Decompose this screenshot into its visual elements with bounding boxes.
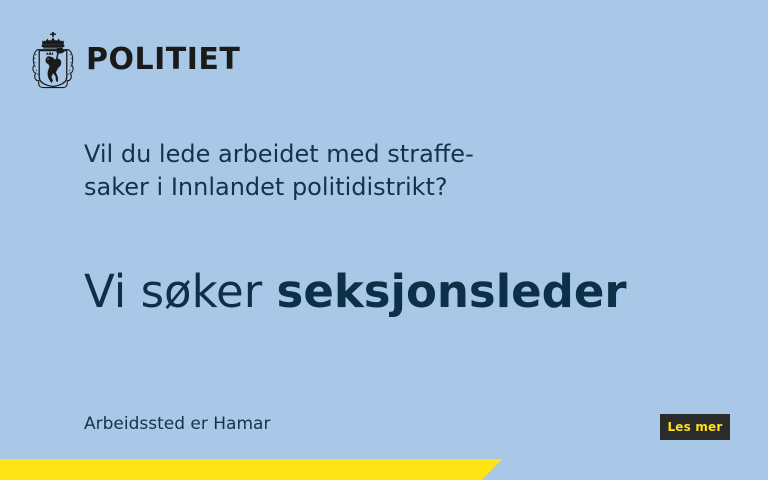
les-mer-button[interactable]: Les mer [660,414,730,440]
les-mer-label: Les mer [667,421,722,433]
norwegian-coat-of-arms-icon [28,31,78,89]
recruitment-banner: POLITIET Vil du lede arbeidet med straff… [0,0,768,480]
headline-light-part: Vi søker [84,265,277,318]
yellow-accent-bar [0,459,502,480]
workplace-text: Arbeidssted er Hamar [84,413,270,435]
page-title: Vi søker seksjonsleder [84,266,627,318]
subheadline-text: Vil du lede arbeidet med straffe- saker … [84,138,644,204]
headline-strong-part: seksjonsleder [277,265,627,318]
politiet-logo: POLITIET [28,31,240,89]
politiet-wordmark: POLITIET [86,45,240,75]
